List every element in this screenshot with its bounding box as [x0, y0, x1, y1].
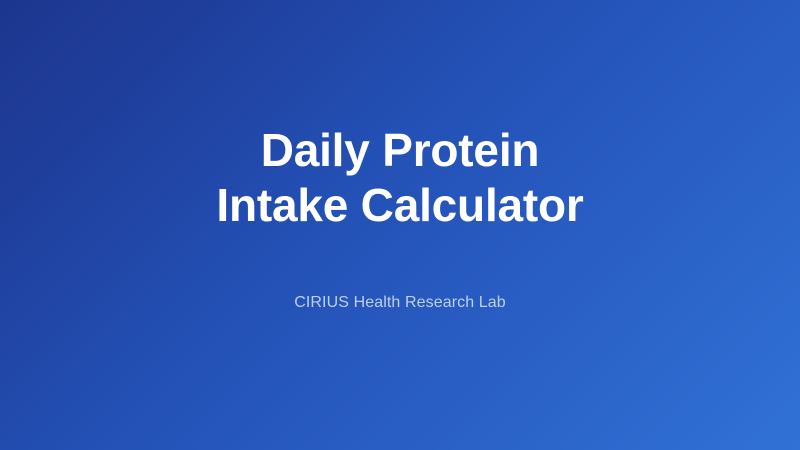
page-title: Daily Protein Intake Calculator — [190, 123, 610, 233]
title-slide: Daily Protein Intake Calculator CIRIUS H… — [0, 0, 800, 450]
slide-subtitle: CIRIUS Health Research Lab — [294, 293, 506, 313]
slide-content-block: Daily Protein Intake Calculator CIRIUS H… — [80, 123, 720, 313]
